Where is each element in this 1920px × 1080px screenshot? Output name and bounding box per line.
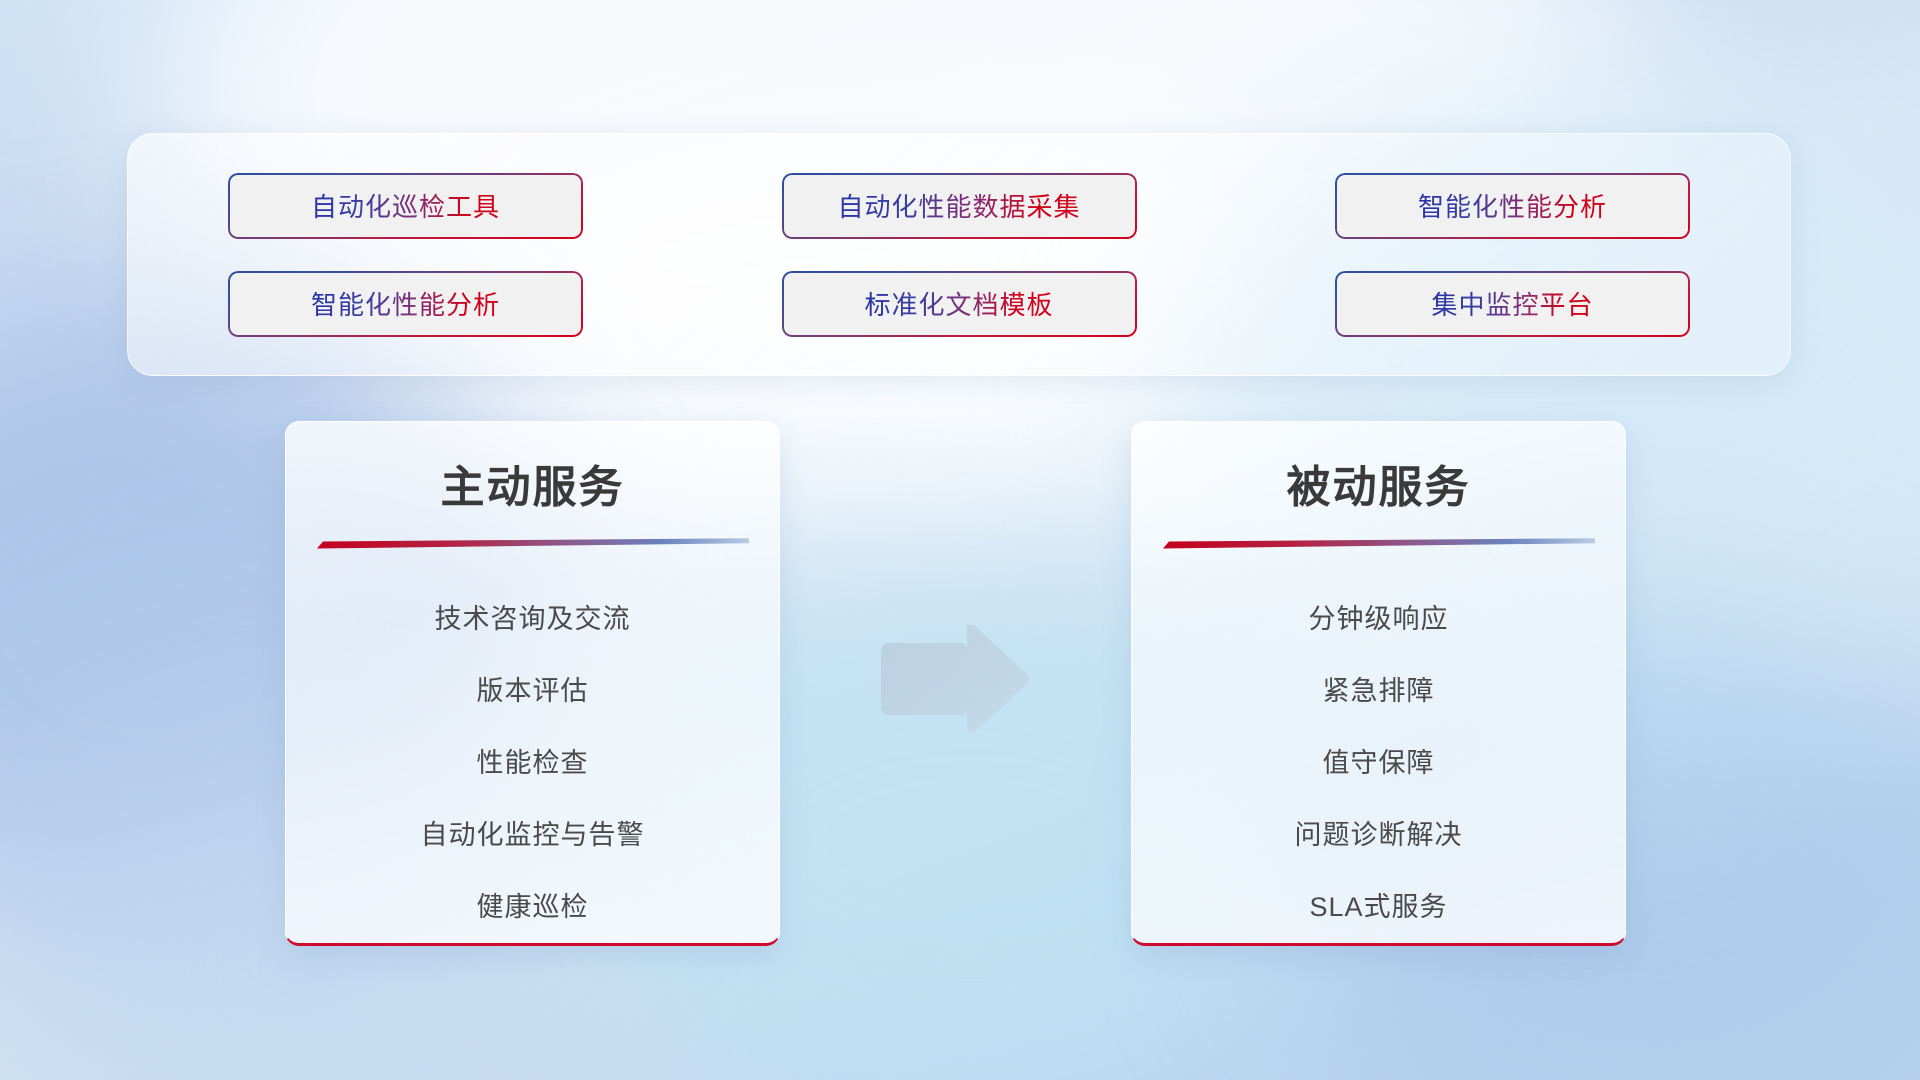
list-item: 自动化监控与告警 <box>421 799 645 871</box>
list-item: 版本评估 <box>477 655 589 727</box>
list-item: 值守保障 <box>1323 727 1435 799</box>
list-item: SLA式服务 <box>1309 871 1447 943</box>
capability-chip-label: 智能化性能分析 <box>1418 187 1607 224</box>
list-item: 问题诊断解决 <box>1295 799 1463 871</box>
service-card-reactive: 被动服务 分钟级响应 紧急排障 值守保障 问题诊断解决 SLA式服务 <box>1131 421 1626 946</box>
list-item: 分钟级响应 <box>1309 583 1449 655</box>
card-item-list: 分钟级响应 紧急排障 值守保障 问题诊断解决 SLA式服务 <box>1166 583 1591 943</box>
capability-chip-intelligent-performance-analysis[interactable]: 智能化性能分析 <box>1335 173 1690 239</box>
capability-row-1: 自动化巡检工具 自动化性能数据采集 智能化性能分析 <box>228 173 1690 239</box>
card-divider <box>1163 538 1595 549</box>
capability-row-2: 智能化性能分析 标准化文档模板 集中监控平台 <box>228 271 1690 337</box>
card-item-list: 技术咨询及交流 版本评估 性能检查 自动化监控与告警 健康巡检 <box>320 583 745 943</box>
capability-chip-automation-inspection-tool[interactable]: 自动化巡检工具 <box>228 173 583 239</box>
capability-chip-standardized-document-template[interactable]: 标准化文档模板 <box>782 271 1137 337</box>
capability-chip-intelligent-performance-analysis-2[interactable]: 智能化性能分析 <box>228 271 583 337</box>
capability-chip-label: 自动化性能数据采集 <box>837 187 1080 224</box>
right-arrow-icon <box>875 625 1035 733</box>
list-item: 性能检查 <box>477 727 589 799</box>
list-item: 紧急排障 <box>1323 655 1435 727</box>
capability-chip-centralized-monitoring-platform[interactable]: 集中监控平台 <box>1335 271 1690 337</box>
service-card-proactive: 主动服务 技术咨询及交流 版本评估 性能检查 自动化监控与告警 健康巡检 <box>285 421 780 946</box>
capability-chip-label: 自动化巡检工具 <box>311 187 500 224</box>
list-item: 健康巡检 <box>477 871 589 943</box>
capability-chip-label: 标准化文档模板 <box>864 285 1053 322</box>
capability-panel: 自动化巡检工具 自动化性能数据采集 智能化性能分析 智能化性能分析 标准化文档模… <box>127 133 1791 376</box>
capability-chip-label: 集中监控平台 <box>1431 285 1593 322</box>
card-title: 被动服务 <box>1287 464 1471 512</box>
capability-chip-label: 智能化性能分析 <box>311 285 500 322</box>
list-item: 技术咨询及交流 <box>435 583 631 655</box>
card-title: 主动服务 <box>441 464 625 512</box>
capability-chip-automated-performance-data-collection[interactable]: 自动化性能数据采集 <box>782 173 1137 239</box>
card-divider <box>317 538 749 549</box>
